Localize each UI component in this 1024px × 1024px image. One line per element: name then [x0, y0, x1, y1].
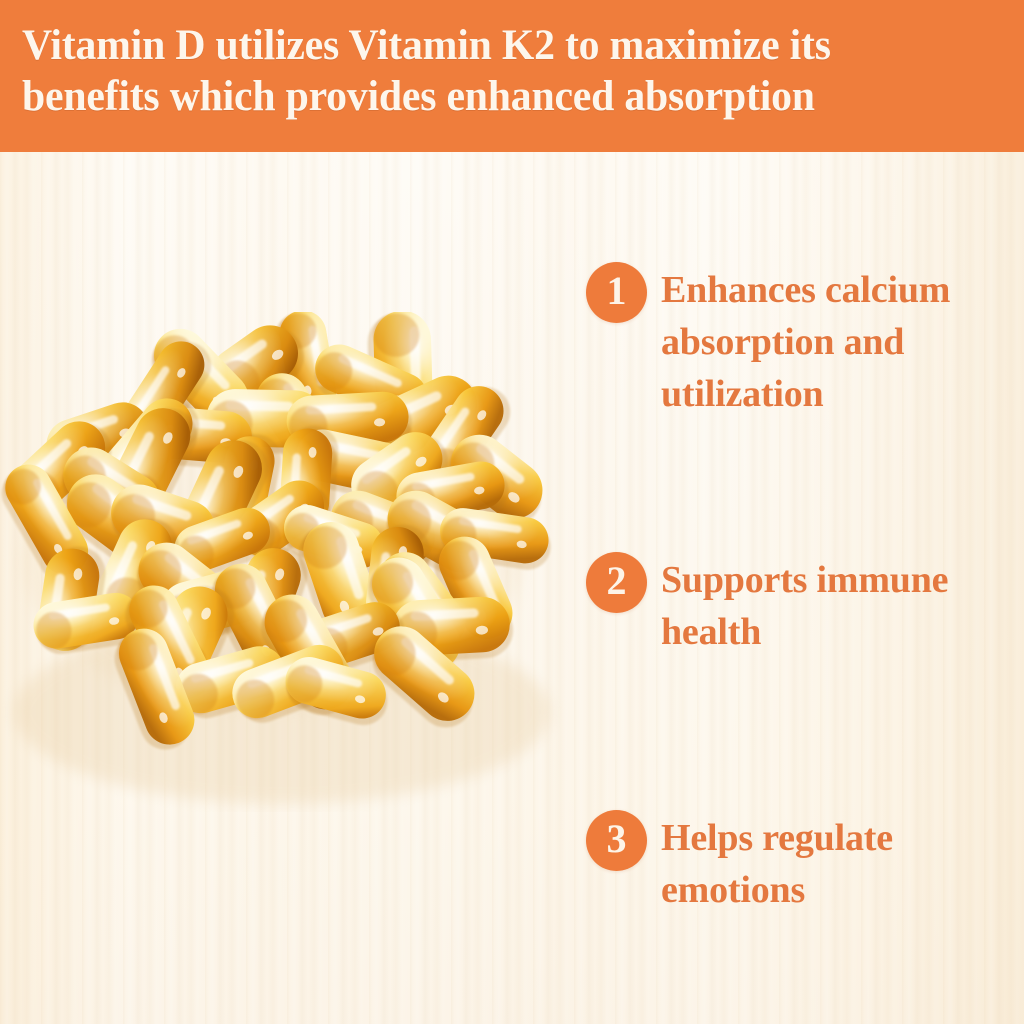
softgel-capsule-pile-image — [0, 312, 594, 812]
benefit-text-1: Enhances calcium absorption and utilizat… — [661, 262, 950, 420]
benefit-number-badge-2: 2 — [586, 552, 647, 613]
header-title-line-2: benefits which provides enhanced absorpt… — [22, 73, 815, 120]
benefit-text-3: Helps regulate emotions — [661, 810, 893, 916]
header-title-line-1: Vitamin D utilizes Vitamin K2 to maximiz… — [22, 22, 831, 69]
benefit-item-3[interactable]: 3 Helps regulate emotions — [586, 810, 893, 916]
benefit-number-badge-3: 3 — [586, 810, 647, 871]
infographic-page: Vitamin D utilizes Vitamin K2 to maximiz… — [0, 0, 1024, 1024]
benefit-item-1[interactable]: 1 Enhances calcium absorption and utiliz… — [586, 262, 950, 420]
capsule-illustration — [0, 312, 594, 812]
benefit-number-badge-1: 1 — [586, 262, 647, 323]
benefit-text-2: Supports immune health — [661, 552, 948, 658]
benefit-item-2[interactable]: 2 Supports immune health — [586, 552, 948, 658]
header-title: Vitamin D utilizes Vitamin K2 to maximiz… — [22, 20, 982, 122]
header-banner: Vitamin D utilizes Vitamin K2 to maximiz… — [0, 0, 1024, 152]
